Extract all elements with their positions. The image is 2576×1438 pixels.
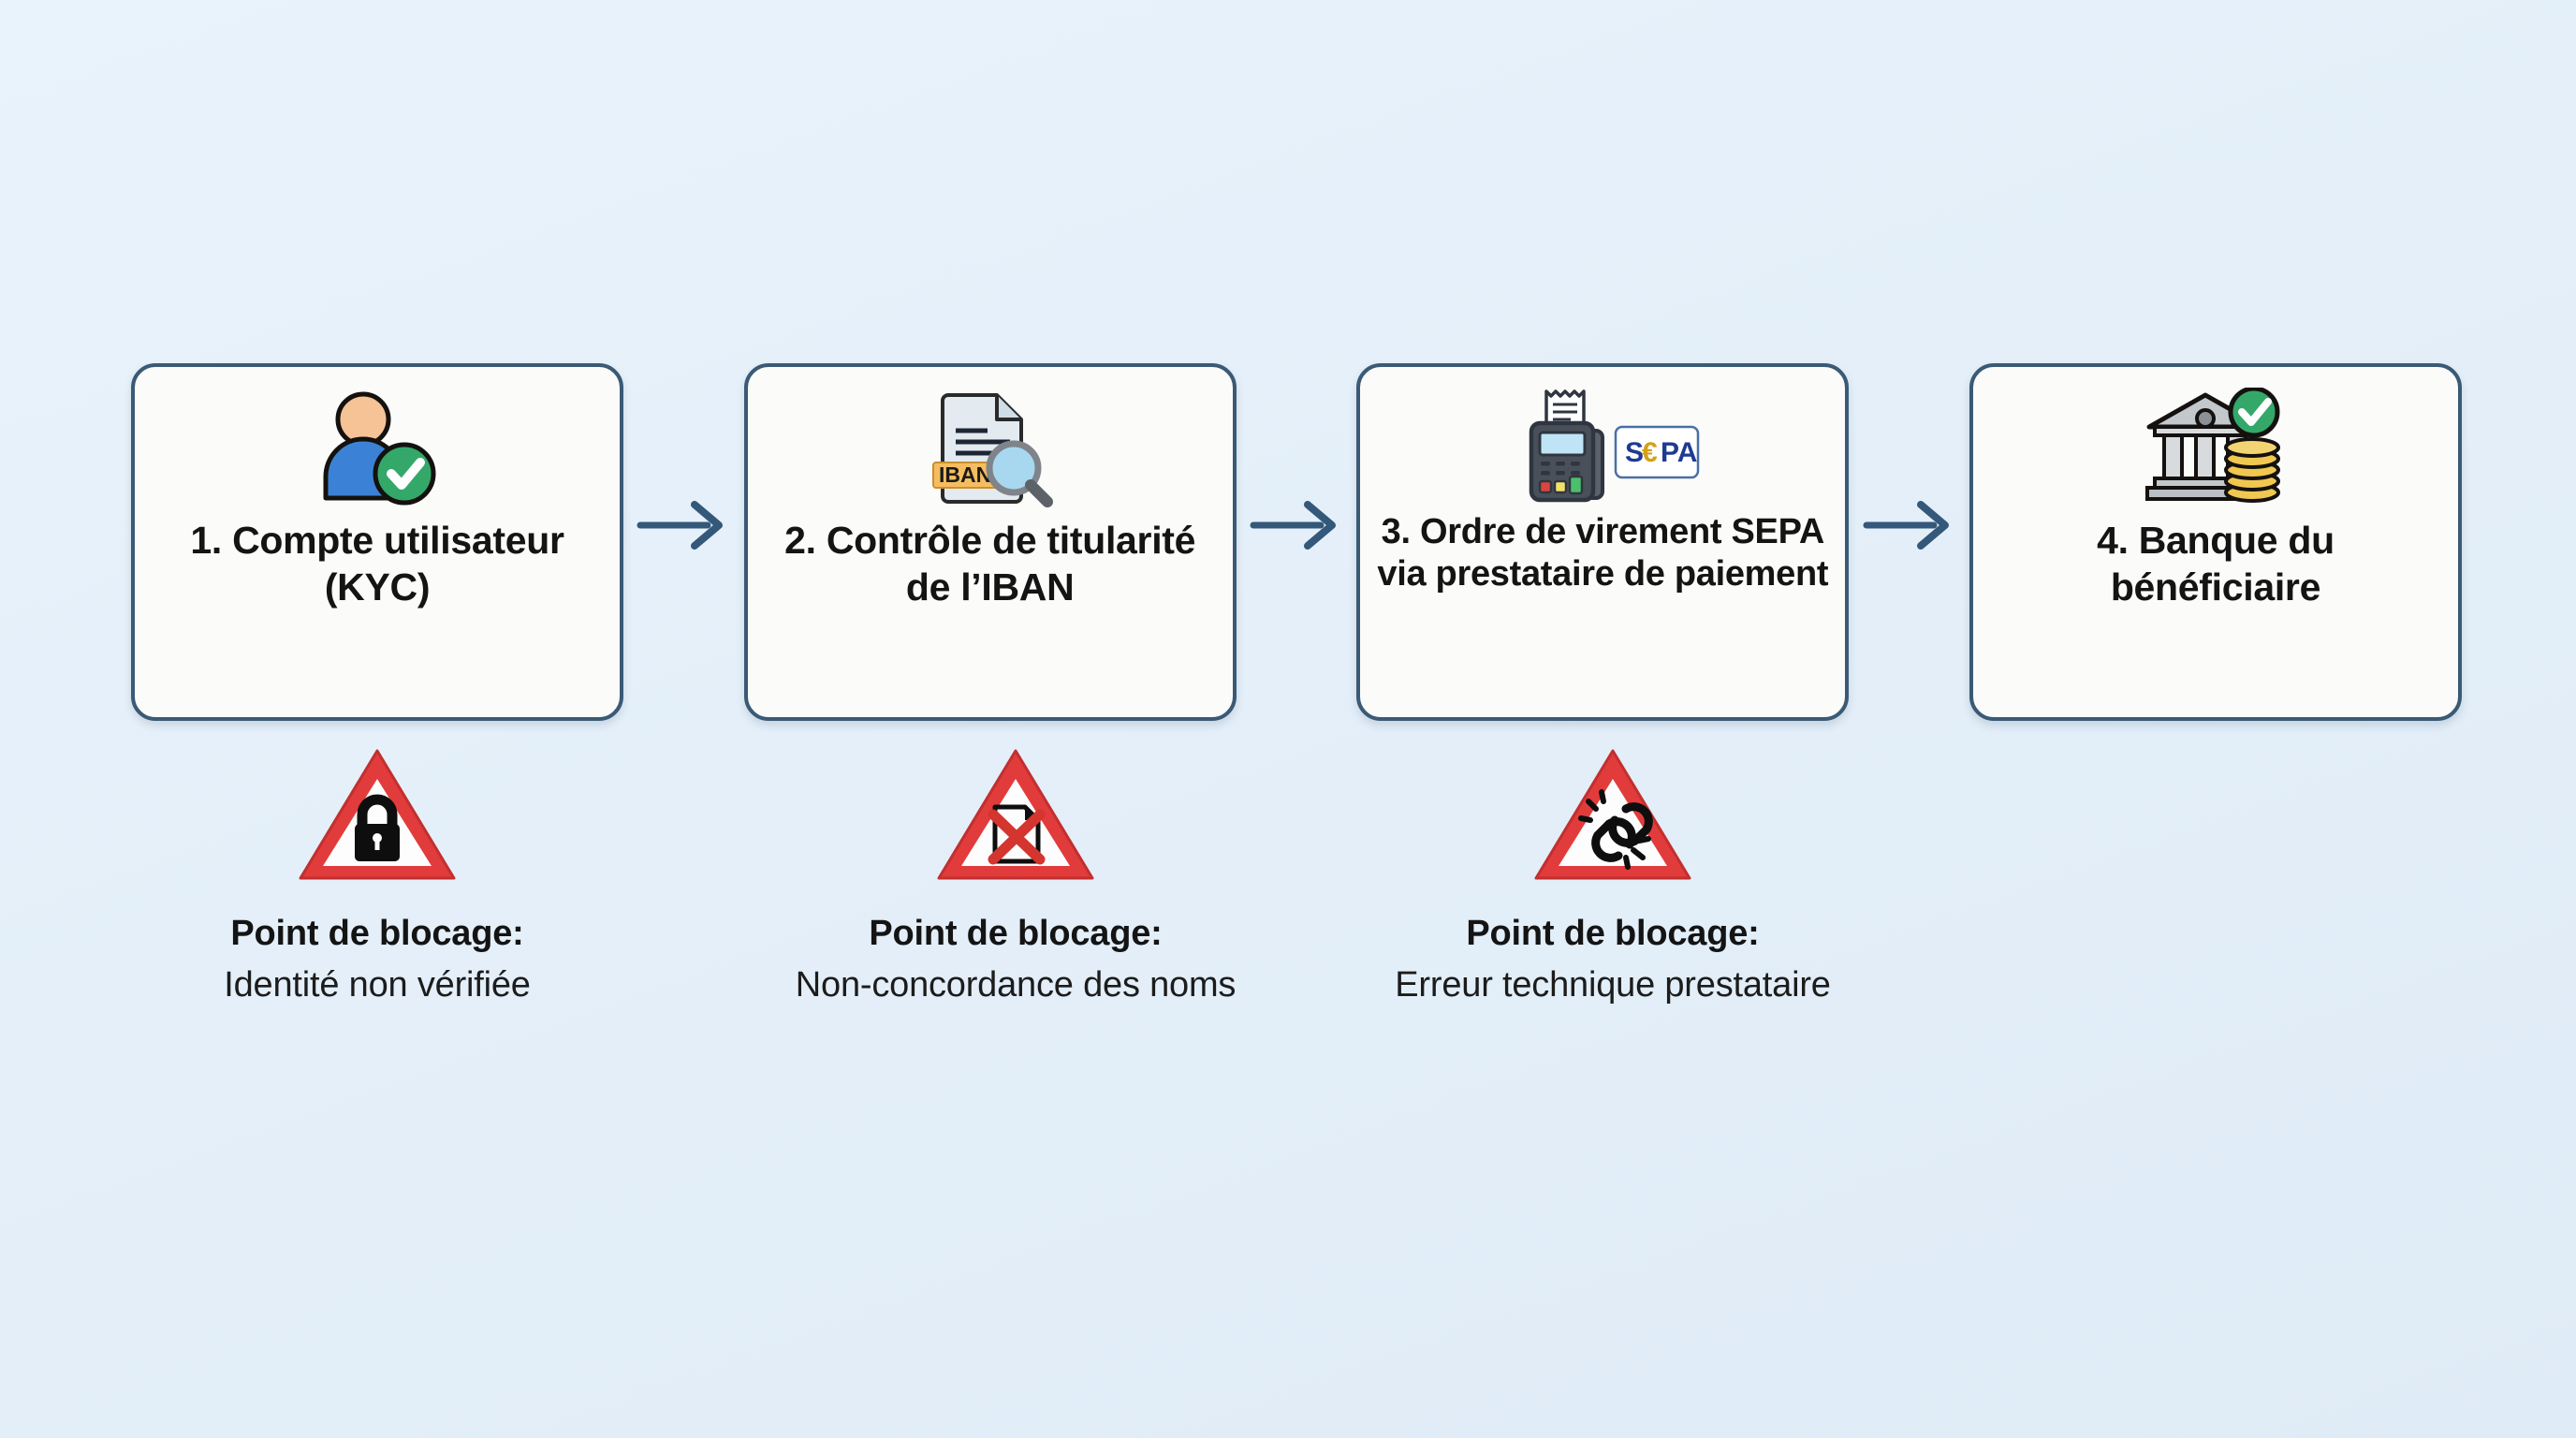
arrow-right-icon: [637, 499, 730, 551]
blocker-3: Point de blocage: Erreur technique prest…: [1367, 740, 1859, 1006]
step-card-2[interactable]: IBAN- 2. Contrôle de titularité de l’IBA…: [744, 363, 1237, 721]
arrow-1-2: [631, 346, 736, 704]
svg-text:S: S: [1625, 437, 1644, 468]
step-card-1[interactable]: 1. Compte utilisateur (KYC): [131, 363, 623, 721]
blocker-1-title: Point de blocage:: [230, 914, 523, 954]
arrow-2-3: [1244, 346, 1349, 704]
svg-text:PA: PA: [1661, 437, 1697, 468]
svg-text:€: €: [1642, 437, 1658, 468]
arrow-3-4: [1857, 346, 1962, 704]
step-card-4-label: 4. Banque du bénéficiaire: [1973, 517, 2458, 610]
blocker-3-desc: Erreur technique prestataire: [1395, 963, 1830, 1006]
step-card-3[interactable]: S € PA 3. Ordre de virement SEPA via pre…: [1356, 363, 1849, 721]
step-card-4[interactable]: 4. Banque du bénéficiaire: [1969, 363, 2462, 721]
blocker-3-title: Point de blocage:: [1466, 914, 1759, 954]
warning-broken-link-icon: [1529, 740, 1697, 889]
user-verified-icon: [307, 388, 447, 507]
step-card-3-label: 3. Ordre de virement SEPA via prestatair…: [1360, 511, 1845, 595]
bank-coins-verified-icon: [2138, 388, 2292, 507]
arrow-right-icon: [1250, 499, 1343, 551]
process-flow-row: 1. Compte utilisateur (KYC) IBAN- 2. Con…: [131, 363, 2462, 721]
warning-document-rejected-icon: [931, 740, 1100, 889]
blocker-2-title: Point de blocage:: [869, 914, 1162, 954]
step-card-1-label: 1. Compte utilisateur (KYC): [135, 517, 620, 610]
blocker-2: Point de blocage: Non-concordance des no…: [769, 740, 1262, 1006]
step-card-2-label: 2. Contrôle de titularité de l’IBAN: [748, 517, 1233, 610]
iban-document-search-icon: IBAN-: [920, 388, 1061, 507]
blocker-1: Point de blocage: Identité non vérifiée: [131, 740, 623, 1006]
blockers-row: Point de blocage: Identité non vérifiée …: [131, 740, 2462, 1133]
blocker-1-desc: Identité non vérifiée: [224, 963, 530, 1006]
warning-lock-icon: [293, 740, 461, 889]
blocker-2-desc: Non-concordance des noms: [796, 963, 1236, 1006]
payment-terminal-sepa-icon: S € PA: [1500, 388, 1705, 507]
arrow-right-icon: [1863, 499, 1956, 551]
